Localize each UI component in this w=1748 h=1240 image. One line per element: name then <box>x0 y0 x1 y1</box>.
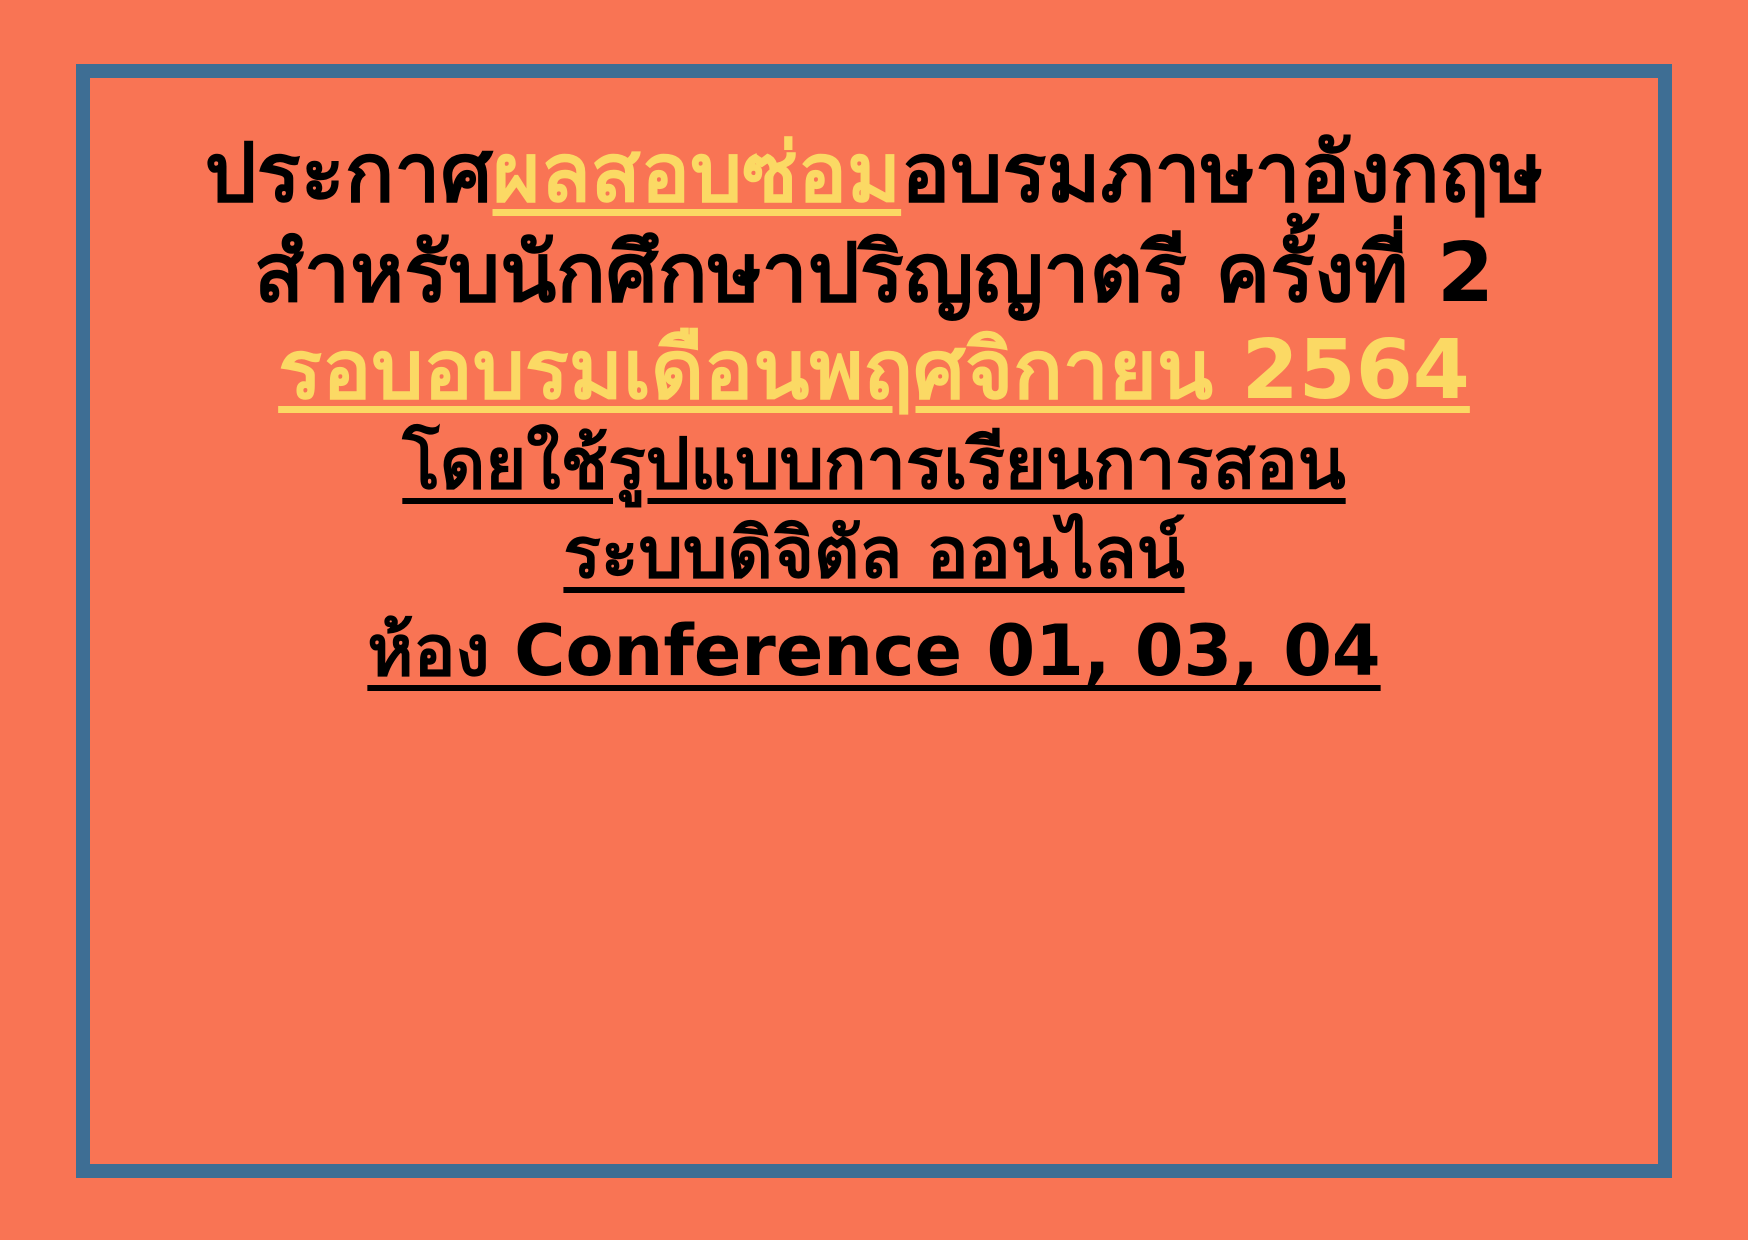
announcement-line-3-session-month: รอบอบรมเดือนพฤศจิกายน 2564 <box>130 329 1618 413</box>
title-segment-highlight: ผลสอบซ่อม <box>493 126 902 221</box>
announcement-title-line-1: ประกาศผลสอบซ่อมอบรมภาษาอังกฤษ <box>130 132 1618 216</box>
poster-content: ประกาศผลสอบซ่อมอบรมภาษาอังกฤษ สำหรับนักศ… <box>90 78 1658 1164</box>
announcement-poster: ประกาศผลสอบซ่อมอบรมภาษาอังกฤษ สำหรับนักศ… <box>0 0 1748 1240</box>
announcement-line-5-platform: ระบบดิจิตัล ออนไลน์ <box>130 518 1618 589</box>
announcement-line-2: สำหรับนักศึกษาปริญญาตรี ครั้งที่ 2 <box>130 232 1618 316</box>
announcement-line-4-format: โดยใช้รูปแบบการเรียนการสอน <box>130 429 1618 500</box>
announcement-line-6-rooms: ห้อง Conference 01, 03, 04 <box>130 616 1618 687</box>
title-segment-prefix: ประกาศ <box>205 126 493 221</box>
title-segment-suffix: อบรมภาษาอังกฤษ <box>901 126 1543 221</box>
